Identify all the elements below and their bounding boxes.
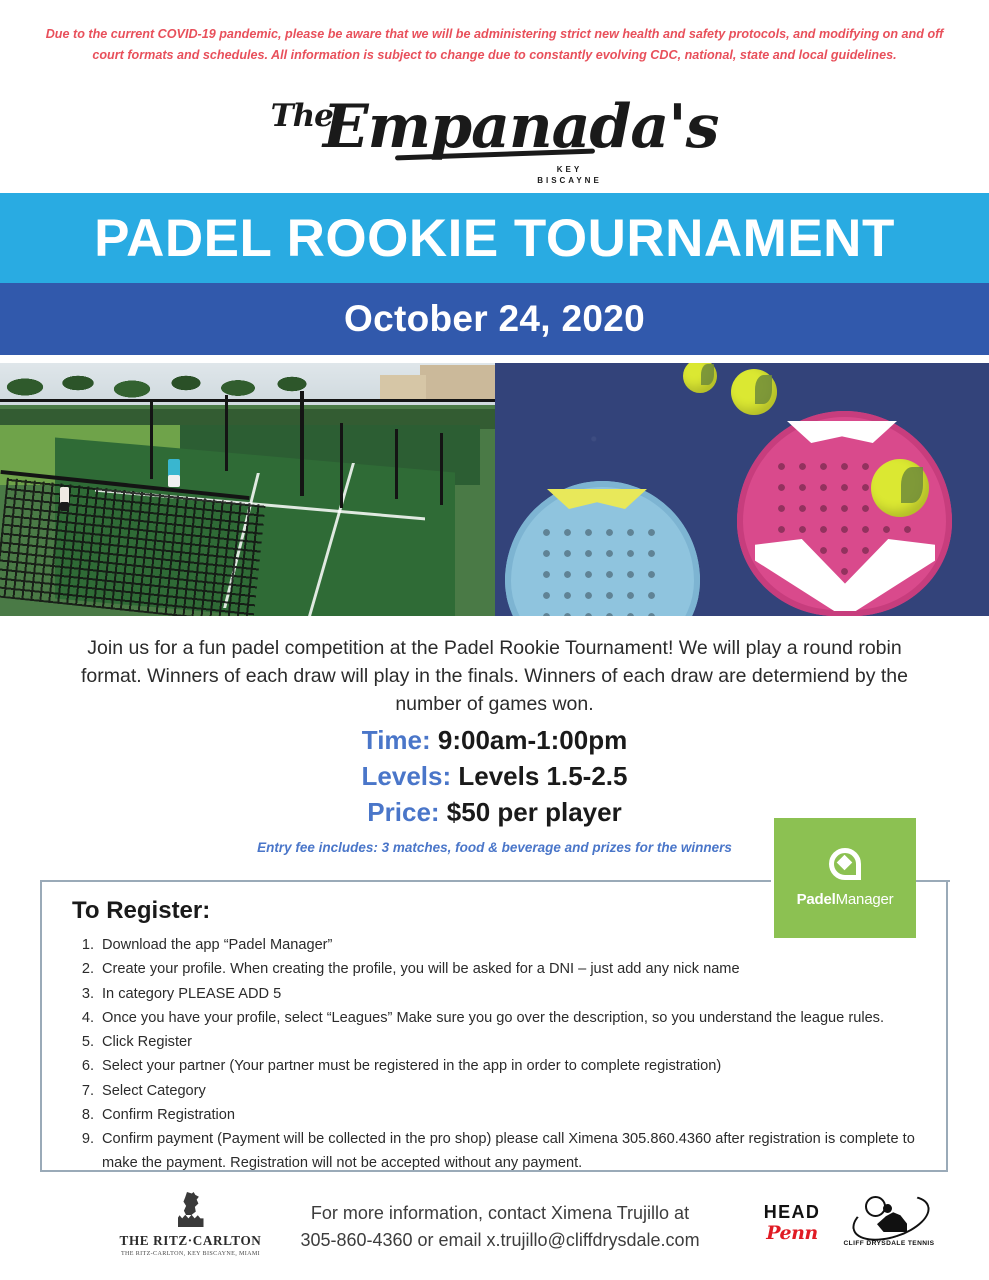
detail-price-value: $50 per player xyxy=(447,797,622,827)
padel-manager-word-manager: Manager xyxy=(836,891,894,908)
step-text: In category PLEASE ADD 5 xyxy=(102,986,281,1002)
photo-pink-racket xyxy=(737,411,952,616)
register-steps-list: 1.Download the app “Padel Manager” 2.Cre… xyxy=(62,934,942,1176)
register-step: 5.Click Register xyxy=(62,1031,942,1054)
ritz-carlton-property: THE RITZ-CARLTON, KEY BISCAYNE, MIAMI xyxy=(88,1251,293,1257)
photo-fence-post-4 xyxy=(340,423,343,508)
contact-info: For more information, contact Ximena Tru… xyxy=(280,1200,720,1254)
photo-pink-racket-top-chevron xyxy=(787,421,897,443)
logo-sub-location: KEY BISCAYNE xyxy=(0,164,989,186)
penn-wordmark: Penn xyxy=(746,1222,838,1244)
step-text: Once you have your profile, select “Leag… xyxy=(102,1010,884,1026)
flyer-page: Due to the current COVID-19 pandemic, pl… xyxy=(0,0,989,1280)
photo-building-2 xyxy=(380,375,426,399)
cliff-drysdale-wordmark: CLIFF DRYSDALE TENNIS xyxy=(836,1240,942,1247)
photo-fence-post-5 xyxy=(395,429,398,499)
step-number: 7. xyxy=(68,1080,94,1103)
tournament-date: October 24, 2020 xyxy=(344,298,645,340)
photo-fence-post-3 xyxy=(300,391,304,496)
photo-fence-post-6 xyxy=(440,433,443,505)
detail-time: Time: 9:00am-1:00pm xyxy=(0,724,989,757)
event-description: Join us for a fun padel competition at t… xyxy=(80,634,909,718)
photo-strip xyxy=(0,363,989,616)
tournament-title: PADEL ROOKIE TOURNAMENT xyxy=(94,208,895,269)
step-number: 3. xyxy=(68,983,94,1006)
lion-icon xyxy=(180,1192,202,1216)
tennis-player-icon xyxy=(851,1196,927,1238)
empanadas-logo: TheEmpanada's KEY BISCAYNE xyxy=(0,78,989,186)
logo-sub-biscayne: BISCAYNE xyxy=(150,175,989,186)
covid-notice: Due to the current COVID-19 pandemic, pl… xyxy=(0,24,989,66)
photo-fence-post-1 xyxy=(150,399,153,479)
ritz-carlton-name: THE RITZ·CARLTON xyxy=(88,1233,293,1249)
detail-time-label: Time: xyxy=(362,725,431,755)
photo-ball-2 xyxy=(731,369,777,415)
detail-time-value: 9:00am-1:00pm xyxy=(438,725,627,755)
photo-building xyxy=(420,365,495,399)
photo-blue-racket-top-chevron xyxy=(547,489,647,509)
tournament-date-band: October 24, 2020 xyxy=(0,283,989,355)
step-text: Select Category xyxy=(102,1083,206,1099)
step-text: Confirm payment (Payment will be collect… xyxy=(102,1131,915,1170)
padel-rackets-photo xyxy=(495,363,989,616)
step-number: 9. xyxy=(68,1128,94,1151)
photo-fence-top-rail xyxy=(0,399,495,402)
register-step: 6.Select your partner (Your partner must… xyxy=(62,1055,942,1078)
tournament-title-band: PADEL ROOKIE TOURNAMENT xyxy=(0,193,989,283)
photo-player-2-shorts xyxy=(168,475,180,487)
register-step: 2.Create your profile. When creating the… xyxy=(62,958,942,981)
padel-manager-logo: PadelManager xyxy=(774,818,916,938)
cliff-drysdale-tennis-logo: CLIFF DRYSDALE TENNIS xyxy=(836,1196,942,1247)
step-number: 2. xyxy=(68,958,94,981)
step-number: 8. xyxy=(68,1104,94,1127)
step-text: Download the app “Padel Manager” xyxy=(102,937,332,953)
ritz-carlton-lion-crown-icon xyxy=(176,1192,206,1230)
ritz-carlton-logo: THE RITZ·CARLTON THE RITZ-CARLTON, KEY B… xyxy=(88,1192,293,1257)
detail-levels-label: Levels: xyxy=(362,761,452,791)
photo-fence-post-2 xyxy=(225,395,228,471)
photo-player-1-shorts xyxy=(60,502,69,511)
photo-blue-racket-holes xyxy=(536,522,669,616)
logo-sub-key: KEY xyxy=(150,164,989,175)
photo-ball-3 xyxy=(871,459,929,517)
step-number: 1. xyxy=(68,934,94,957)
detail-price-label: Price: xyxy=(367,797,439,827)
register-step: 3.In category PLEASE ADD 5 xyxy=(62,983,942,1006)
contact-line-2: 305-860-4360 or email x.trujillo@cliffdr… xyxy=(280,1227,720,1254)
padel-courts-photo xyxy=(0,363,495,616)
head-wordmark: HEAD xyxy=(746,1202,838,1222)
detail-levels-value: Levels 1.5-2.5 xyxy=(458,761,627,791)
register-step: 4.Once you have your profile, select “Le… xyxy=(62,1007,942,1030)
step-text: Confirm Registration xyxy=(102,1107,235,1123)
crown-icon xyxy=(178,1214,204,1227)
detail-levels: Levels: Levels 1.5-2.5 xyxy=(0,760,989,793)
step-number: 4. xyxy=(68,1007,94,1030)
step-text: Click Register xyxy=(102,1034,192,1050)
register-title: To Register: xyxy=(72,897,210,925)
padel-manager-word-padel: Padel xyxy=(797,891,836,908)
padel-manager-wordmark: PadelManager xyxy=(797,891,894,908)
head-penn-logo: HEAD Penn xyxy=(746,1202,838,1244)
player-head-icon xyxy=(883,1204,892,1213)
step-number: 5. xyxy=(68,1031,94,1054)
padel-manager-icon xyxy=(827,848,863,884)
contact-line-1: For more information, contact Ximena Tru… xyxy=(280,1200,720,1227)
step-text: Create your profile. When creating the p… xyxy=(102,961,740,977)
step-number: 6. xyxy=(68,1055,94,1078)
register-step: 7.Select Category xyxy=(62,1080,942,1103)
step-text: Select your partner (Your partner must b… xyxy=(102,1058,721,1074)
register-step: 8.Confirm Registration xyxy=(62,1104,942,1127)
event-details: Time: 9:00am-1:00pm Levels: Levels 1.5-2… xyxy=(0,724,989,832)
register-step: 9.Confirm payment (Payment will be colle… xyxy=(62,1128,942,1175)
